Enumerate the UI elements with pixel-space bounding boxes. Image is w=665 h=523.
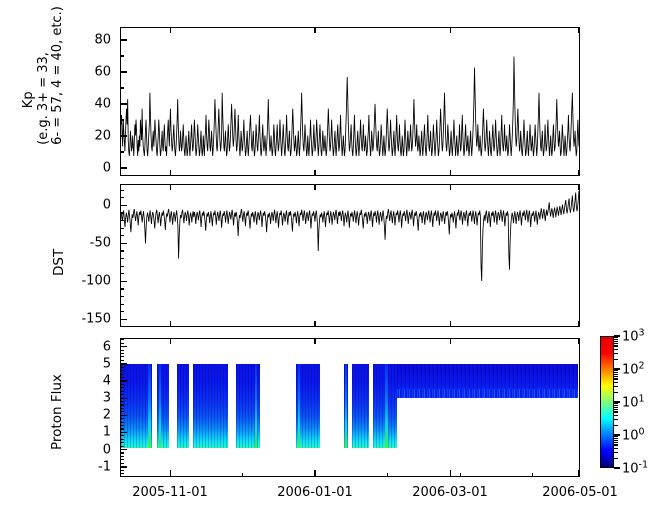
tick-mark — [614, 448, 618, 449]
tick-mark — [614, 452, 618, 453]
series-path — [121, 191, 579, 281]
tick-mark — [614, 419, 618, 420]
tick-mark — [120, 266, 124, 267]
tick-mark — [578, 338, 579, 344]
tick-mark — [120, 370, 124, 371]
tick-mark — [120, 212, 124, 213]
tick-mark — [614, 403, 618, 404]
band-striation — [121, 364, 152, 448]
tick-mark — [614, 440, 618, 441]
tick-mark — [578, 27, 579, 33]
tick-mark — [120, 360, 124, 361]
tick-mark — [170, 184, 171, 190]
tick-mark — [120, 220, 124, 221]
tick-mark — [120, 394, 124, 395]
proton-flux-axis-title: Proton Flux — [50, 374, 66, 450]
y-tick-label: 2 — [103, 409, 111, 422]
kp-axis-title-line: 6- = 57, 4 = 40, etc.) — [51, 54, 66, 144]
tick-mark — [120, 439, 124, 440]
x-tick-label: 2006-01-01 — [277, 486, 353, 499]
tick-mark — [120, 288, 124, 289]
y-tick-label: -150 — [81, 313, 111, 326]
tick-mark — [614, 353, 618, 354]
tick-mark — [120, 374, 124, 375]
tick-mark — [614, 444, 618, 445]
tick-mark — [314, 321, 315, 327]
tick-mark — [120, 235, 124, 236]
tick-mark — [170, 321, 171, 327]
tick-mark — [614, 376, 618, 377]
tick-mark — [120, 408, 124, 409]
colorbar-tick-label: 100 — [622, 427, 645, 442]
tick-mark — [614, 442, 618, 443]
tick-mark — [120, 339, 124, 340]
tick-mark — [120, 135, 127, 136]
tick-mark — [614, 339, 618, 340]
band-striation — [193, 364, 229, 448]
tick-mark — [614, 337, 618, 338]
tick-mark — [120, 411, 124, 412]
tick-mark — [120, 319, 127, 320]
dst-axis-title: DST — [52, 248, 68, 275]
proton-flux-band — [177, 364, 189, 448]
tick-mark — [120, 387, 124, 388]
band-striation — [352, 364, 370, 448]
proton-flux-continuous-band — [397, 364, 578, 398]
tick-mark — [120, 167, 127, 168]
tick-mark — [120, 55, 124, 56]
tick-mark — [614, 372, 618, 373]
colorbar-tick-label: 101 — [622, 394, 645, 409]
figure-canvas: Kp(e.g. 3+ = 33,6- = 57, 4 = 40, etc.) D… — [0, 0, 665, 523]
kp-axis-title-line: Kp — [22, 54, 37, 144]
proton-flux-band — [352, 364, 370, 448]
tick-mark — [120, 432, 127, 433]
tick-mark — [120, 456, 124, 457]
tick-mark — [460, 473, 461, 477]
tick-mark — [120, 463, 124, 464]
tick-mark — [614, 386, 618, 387]
kp-panel — [120, 27, 580, 176]
proton-flux-panel — [120, 338, 580, 477]
tick-mark — [450, 338, 451, 344]
tick-mark — [578, 470, 579, 477]
tick-mark — [614, 378, 618, 379]
kp-plot-area — [121, 28, 579, 175]
y-tick-label: 3 — [103, 392, 111, 405]
tick-mark — [120, 380, 127, 381]
tick-mark — [120, 459, 124, 460]
y-tick-label: 80 — [94, 33, 111, 46]
y-tick-label: -50 — [90, 237, 111, 250]
tick-mark — [170, 27, 171, 33]
proton-flux-hot-streak — [385, 364, 387, 448]
tick-mark — [614, 349, 618, 350]
tick-mark — [120, 452, 124, 453]
x-tick-label: 2006-03-01 — [412, 486, 488, 499]
band-striation — [177, 364, 189, 448]
kp-series — [121, 28, 579, 175]
tick-mark — [614, 425, 618, 426]
tick-mark — [120, 449, 127, 450]
tick-mark — [314, 338, 315, 344]
dst-series — [121, 185, 579, 326]
tick-mark — [532, 473, 533, 477]
tick-mark — [614, 415, 618, 416]
tick-mark — [614, 359, 618, 360]
tick-mark — [120, 466, 127, 467]
tick-mark — [120, 243, 127, 244]
tick-mark — [120, 446, 124, 447]
y-tick-label: 5 — [103, 357, 111, 370]
y-tick-label: 40 — [94, 97, 111, 110]
tick-mark — [120, 258, 124, 259]
proton-flux-hot-streak — [255, 364, 257, 448]
tick-mark — [120, 71, 127, 72]
y-tick-label: 60 — [94, 65, 111, 78]
tick-mark — [120, 350, 124, 351]
tick-mark — [170, 473, 171, 477]
tick-mark — [120, 398, 127, 399]
tick-mark — [120, 442, 124, 443]
y-tick-label: 4 — [103, 374, 111, 387]
tick-mark — [120, 428, 124, 429]
tick-mark — [120, 346, 127, 347]
tick-mark — [120, 356, 124, 357]
tick-mark — [614, 405, 618, 406]
colorbar-tick-label: 102 — [622, 361, 645, 376]
tick-mark — [120, 281, 127, 282]
colorbar-gradient — [601, 337, 613, 467]
tick-mark — [120, 353, 124, 354]
tick-mark — [120, 425, 124, 426]
tick-mark — [242, 473, 243, 477]
tick-mark — [314, 27, 315, 33]
tick-mark — [120, 87, 124, 88]
tick-mark — [614, 343, 618, 344]
tick-mark — [578, 184, 579, 190]
proton-flux-hot-streak — [298, 364, 300, 448]
dst-plot-area — [121, 185, 579, 326]
tick-mark — [120, 384, 124, 385]
tick-mark — [314, 170, 315, 176]
proton-flux-plot-area — [121, 339, 579, 476]
tick-mark — [120, 296, 124, 297]
tick-mark — [170, 170, 171, 176]
x-tick-label: 2006-05-01 — [542, 486, 618, 499]
tick-mark — [120, 422, 124, 423]
tick-mark — [614, 467, 620, 468]
colorbar-tick-label: 10-1 — [622, 460, 648, 475]
tick-mark — [120, 250, 124, 251]
y-tick-label: 6 — [103, 340, 111, 353]
tick-mark — [120, 391, 124, 392]
y-tick-label: -1 — [98, 460, 111, 473]
y-tick-label: -100 — [81, 275, 111, 288]
tick-mark — [614, 438, 618, 439]
tick-mark — [450, 170, 451, 176]
tick-mark — [120, 228, 124, 229]
tick-mark — [120, 151, 124, 152]
kp-axis-title: Kp(e.g. 3+ = 33,6- = 57, 4 = 40, etc.) — [22, 54, 66, 144]
tick-mark — [170, 338, 171, 344]
tick-mark — [450, 184, 451, 190]
tick-mark — [614, 411, 618, 412]
tick-mark — [614, 409, 618, 410]
tick-mark — [120, 470, 124, 471]
y-tick-label: 20 — [94, 129, 111, 142]
tick-mark — [120, 205, 127, 206]
proton-flux-hot-streak — [159, 364, 161, 448]
tick-mark — [614, 341, 618, 342]
tick-mark — [120, 190, 124, 191]
tick-mark — [614, 382, 618, 383]
tick-mark — [578, 170, 579, 176]
tick-mark — [120, 401, 124, 402]
tick-mark — [450, 321, 451, 327]
y-tick-label: 0 — [103, 199, 111, 212]
tick-mark — [120, 273, 124, 274]
kp-axis-title-line: (e.g. 3+ = 33, — [37, 54, 52, 144]
tick-mark — [314, 184, 315, 190]
tick-mark — [120, 435, 124, 436]
colorbar — [600, 336, 614, 468]
tick-mark — [120, 418, 124, 419]
tick-mark — [120, 404, 124, 405]
tick-mark — [614, 436, 618, 437]
tick-mark — [614, 370, 618, 371]
tick-mark — [450, 470, 451, 477]
dst-panel — [120, 184, 580, 327]
tick-mark — [614, 458, 618, 459]
series-path — [121, 56, 579, 156]
tick-mark — [120, 311, 124, 312]
x-tick-label: 2005-11-01 — [132, 486, 208, 499]
tick-mark — [120, 367, 124, 368]
tick-mark — [120, 377, 124, 378]
proton-flux-band — [193, 364, 229, 448]
tick-mark — [120, 197, 124, 198]
proton-flux-hot-streak — [345, 364, 347, 448]
tick-mark — [614, 407, 618, 408]
y-tick-label: 1 — [103, 426, 111, 439]
tick-mark — [120, 343, 124, 344]
tick-mark — [315, 473, 316, 477]
tick-mark — [614, 345, 618, 346]
colorbar-tick-label: 103 — [622, 328, 645, 343]
tick-mark — [120, 473, 124, 474]
tick-mark — [120, 39, 127, 40]
tick-mark — [120, 103, 127, 104]
tick-mark — [120, 119, 124, 120]
y-tick-label: 0 — [103, 161, 111, 174]
y-tick-label: 0 — [103, 443, 111, 456]
tick-mark — [614, 392, 618, 393]
tick-mark — [120, 304, 124, 305]
proton-flux-hot-streak — [148, 364, 150, 448]
tick-mark — [120, 415, 127, 416]
tick-mark — [450, 27, 451, 33]
tick-mark — [614, 374, 618, 375]
tick-mark — [578, 321, 579, 327]
proton-flux-band — [121, 364, 152, 448]
tick-mark — [387, 473, 388, 477]
tick-mark — [120, 363, 127, 364]
continuous-band-fringe — [397, 389, 578, 398]
